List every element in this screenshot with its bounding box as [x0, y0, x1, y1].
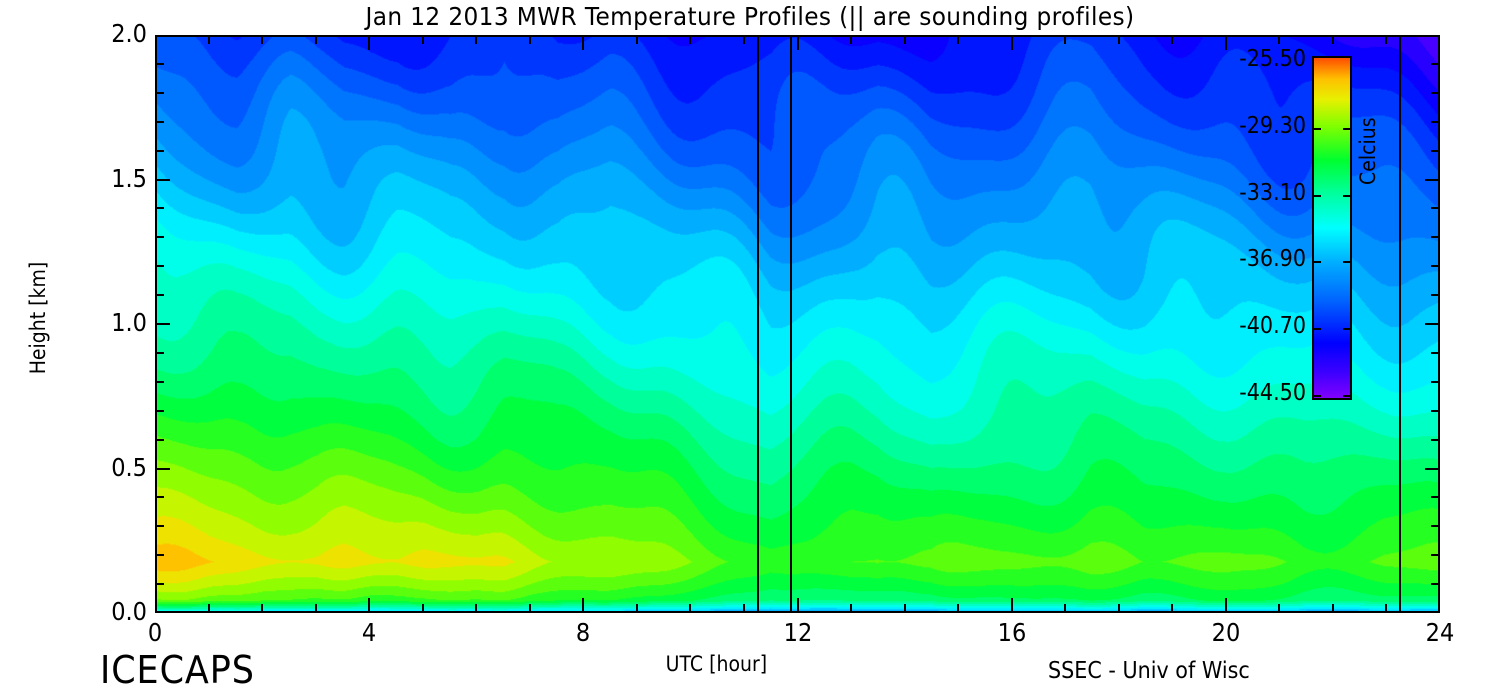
y-minor-tick-right [1431, 121, 1439, 123]
x-minor-tick-top [1385, 36, 1387, 44]
y-tick-label: 0.0 [64, 597, 147, 626]
x-minor-tick-top [208, 36, 210, 44]
y-minor-tick [156, 294, 164, 296]
colorbar-tick-right [1343, 128, 1352, 130]
colorbar-tick-right [1343, 195, 1352, 197]
y-tick-label: 2.0 [64, 19, 147, 48]
x-minor-tick-top [529, 36, 531, 44]
colorbar-tick-label: -40.70 [1205, 313, 1306, 339]
y-minor-tick-right [1431, 583, 1439, 585]
y-minor-tick [156, 236, 164, 238]
x-minor-tick [1385, 604, 1387, 612]
x-minor-tick [422, 604, 424, 612]
x-tick-label: 8 [547, 618, 619, 647]
y-minor-tick [156, 583, 164, 585]
colorbar-tick [1312, 261, 1321, 263]
colorbar-tick-label: -33.10 [1205, 180, 1306, 206]
x-major-tick-top [368, 36, 370, 50]
x-major-tick-top [582, 36, 584, 50]
y-axis-title: Height [km] [26, 228, 50, 408]
colorbar-tick-label: -29.30 [1205, 113, 1306, 139]
y-minor-tick [156, 352, 164, 354]
x-minor-tick-top [743, 36, 745, 44]
y-minor-tick [156, 207, 164, 209]
x-minor-tick [850, 604, 852, 612]
y-minor-tick-right [1431, 207, 1439, 209]
x-minor-tick-top [1118, 36, 1120, 44]
x-minor-tick [1171, 604, 1173, 612]
sounding-profile-line [1399, 37, 1401, 611]
x-major-tick [582, 598, 584, 612]
figure-title: Jan 12 2013 MWR Temperature Profiles (||… [53, 2, 1448, 31]
x-tick-label: 12 [762, 618, 834, 647]
x-minor-tick-top [475, 36, 477, 44]
x-tick-label: 4 [333, 618, 405, 647]
colorbar-tick [1312, 328, 1321, 330]
y-major-tick [156, 179, 170, 181]
x-minor-tick [1332, 604, 1334, 612]
project-brand-label: ICECAPS [100, 648, 255, 692]
y-minor-tick [156, 439, 164, 441]
x-minor-tick [529, 604, 531, 612]
colorbar-tick-right [1343, 395, 1352, 397]
y-tick-label: 1.0 [64, 308, 147, 337]
y-major-tick-right [1425, 468, 1439, 470]
x-major-tick [797, 598, 799, 612]
y-tick-label: 1.5 [64, 164, 147, 193]
y-minor-tick-right [1431, 150, 1439, 152]
colorbar-tick-label: -25.50 [1205, 46, 1306, 72]
colorbar-tick [1312, 128, 1321, 130]
y-minor-tick-right [1431, 439, 1439, 441]
x-axis-title: UTC [hour] [666, 652, 768, 676]
credit-label: SSEC - Univ of Wisc [1048, 658, 1250, 684]
x-minor-tick-top [636, 36, 638, 44]
y-tick-label: 0.5 [64, 453, 147, 482]
x-minor-tick-top [1278, 36, 1280, 44]
x-minor-tick-top [689, 36, 691, 44]
y-minor-tick-right [1431, 554, 1439, 556]
x-minor-tick-top [1332, 36, 1334, 44]
colorbar-tick-label: -44.50 [1205, 380, 1306, 406]
colorbar-tick-right [1343, 328, 1352, 330]
y-minor-tick [156, 63, 164, 65]
x-major-tick [368, 598, 370, 612]
y-minor-tick-right [1431, 496, 1439, 498]
y-minor-tick-right [1431, 92, 1439, 94]
x-tick-label: 24 [1404, 618, 1476, 647]
y-minor-tick-right [1431, 352, 1439, 354]
x-minor-tick [315, 604, 317, 612]
y-minor-tick [156, 381, 164, 383]
y-minor-tick [156, 92, 164, 94]
x-major-tick [1011, 598, 1013, 612]
x-minor-tick-top [904, 36, 906, 44]
x-tick-label: 16 [976, 618, 1048, 647]
x-minor-tick-top [957, 36, 959, 44]
y-minor-tick-right [1431, 236, 1439, 238]
x-major-tick-top [797, 36, 799, 50]
colorbar-title: Celcius [1356, 117, 1380, 185]
y-major-tick [156, 323, 170, 325]
y-major-tick-right [1425, 179, 1439, 181]
y-minor-tick-right [1431, 381, 1439, 383]
y-minor-tick [156, 554, 164, 556]
y-minor-tick-right [1431, 63, 1439, 65]
x-minor-tick [743, 604, 745, 612]
x-minor-tick [636, 604, 638, 612]
colorbar-tick-label: -36.90 [1205, 246, 1306, 272]
sounding-profile-line [790, 37, 792, 611]
y-major-tick-right [1425, 323, 1439, 325]
x-minor-tick [1278, 604, 1280, 612]
x-minor-tick [1064, 604, 1066, 612]
x-minor-tick-top [261, 36, 263, 44]
x-minor-tick [957, 604, 959, 612]
y-minor-tick [156, 265, 164, 267]
x-minor-tick [261, 604, 263, 612]
x-minor-tick [689, 604, 691, 612]
y-minor-tick-right [1431, 525, 1439, 527]
x-minor-tick-top [1171, 36, 1173, 44]
y-major-tick [156, 468, 170, 470]
colorbar-tick-right [1343, 261, 1352, 263]
colorbar-gradient [1314, 58, 1350, 398]
x-minor-tick [475, 604, 477, 612]
y-minor-tick [156, 121, 164, 123]
mwr-temperature-profile-figure: Jan 12 2013 MWR Temperature Profiles (||… [0, 0, 1500, 700]
y-minor-tick [156, 525, 164, 527]
x-minor-tick-top [1064, 36, 1066, 44]
x-minor-tick [904, 604, 906, 612]
y-minor-tick [156, 150, 164, 152]
y-minor-tick-right [1431, 294, 1439, 296]
sounding-profile-line [757, 37, 759, 611]
x-major-tick-top [1011, 36, 1013, 50]
x-minor-tick [208, 604, 210, 612]
colorbar [1312, 56, 1352, 400]
x-minor-tick [1118, 604, 1120, 612]
colorbar-tick [1312, 195, 1321, 197]
y-minor-tick [156, 410, 164, 412]
y-minor-tick-right [1431, 410, 1439, 412]
y-minor-tick-right [1431, 265, 1439, 267]
x-minor-tick-top [850, 36, 852, 44]
x-minor-tick-top [315, 36, 317, 44]
x-major-tick [1225, 598, 1227, 612]
x-minor-tick-top [422, 36, 424, 44]
y-minor-tick [156, 496, 164, 498]
colorbar-tick [1312, 395, 1321, 397]
x-tick-label: 20 [1190, 618, 1262, 647]
